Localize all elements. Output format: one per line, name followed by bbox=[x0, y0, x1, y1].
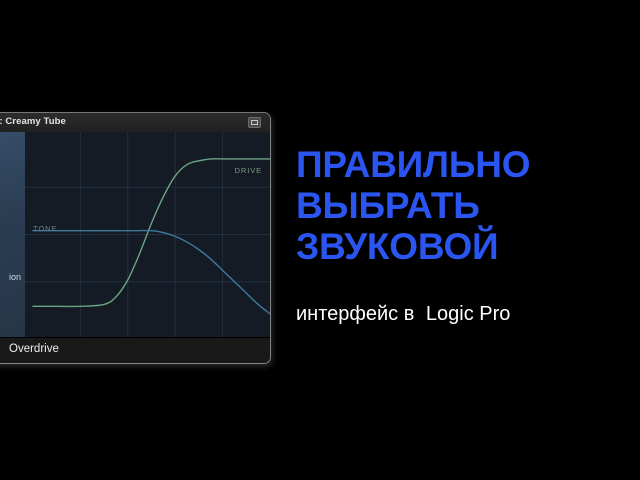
plugin-sidebar-panel[interactable]: ion bbox=[0, 132, 26, 337]
plugin-window-title: Track: Creamy Tube bbox=[0, 116, 66, 127]
window-expand-icon[interactable] bbox=[248, 117, 261, 128]
subtitle: интерфейс в Logic Pro bbox=[296, 302, 626, 326]
subtitle-text: интерфейс в bbox=[296, 303, 414, 325]
sidebar-item-label: ion bbox=[9, 272, 21, 282]
transfer-curve-plot[interactable]: DRIVE TONE bbox=[25, 132, 270, 337]
subtitle-app-name: Logic Pro bbox=[426, 303, 511, 325]
plot-canvas bbox=[25, 132, 270, 337]
headline-line-3: ЗВУКОВОЙ bbox=[296, 226, 626, 267]
plugin-titlebar[interactable]: Track: Creamy Tube bbox=[0, 113, 270, 133]
headline-line-1: ПРАВИЛЬНО bbox=[296, 144, 626, 185]
headline-line-2: ВЫБРАТЬ bbox=[296, 185, 626, 226]
drive-curve bbox=[33, 159, 270, 307]
tone-curve bbox=[33, 231, 270, 314]
plugin-footer-bar[interactable]: Overdrive bbox=[0, 337, 270, 363]
tone-series-label: TONE bbox=[33, 224, 57, 233]
plugin-preset-name: Overdrive bbox=[9, 343, 59, 355]
headline: ПРАВИЛЬНО ВЫБРАТЬ ЗВУКОВОЙ bbox=[296, 144, 626, 267]
drive-series-label: DRIVE bbox=[235, 166, 262, 175]
window-expand-glyph bbox=[251, 120, 258, 125]
plugin-window: Track: Creamy Tube ion DRIVE TONE Overdr… bbox=[0, 113, 270, 363]
